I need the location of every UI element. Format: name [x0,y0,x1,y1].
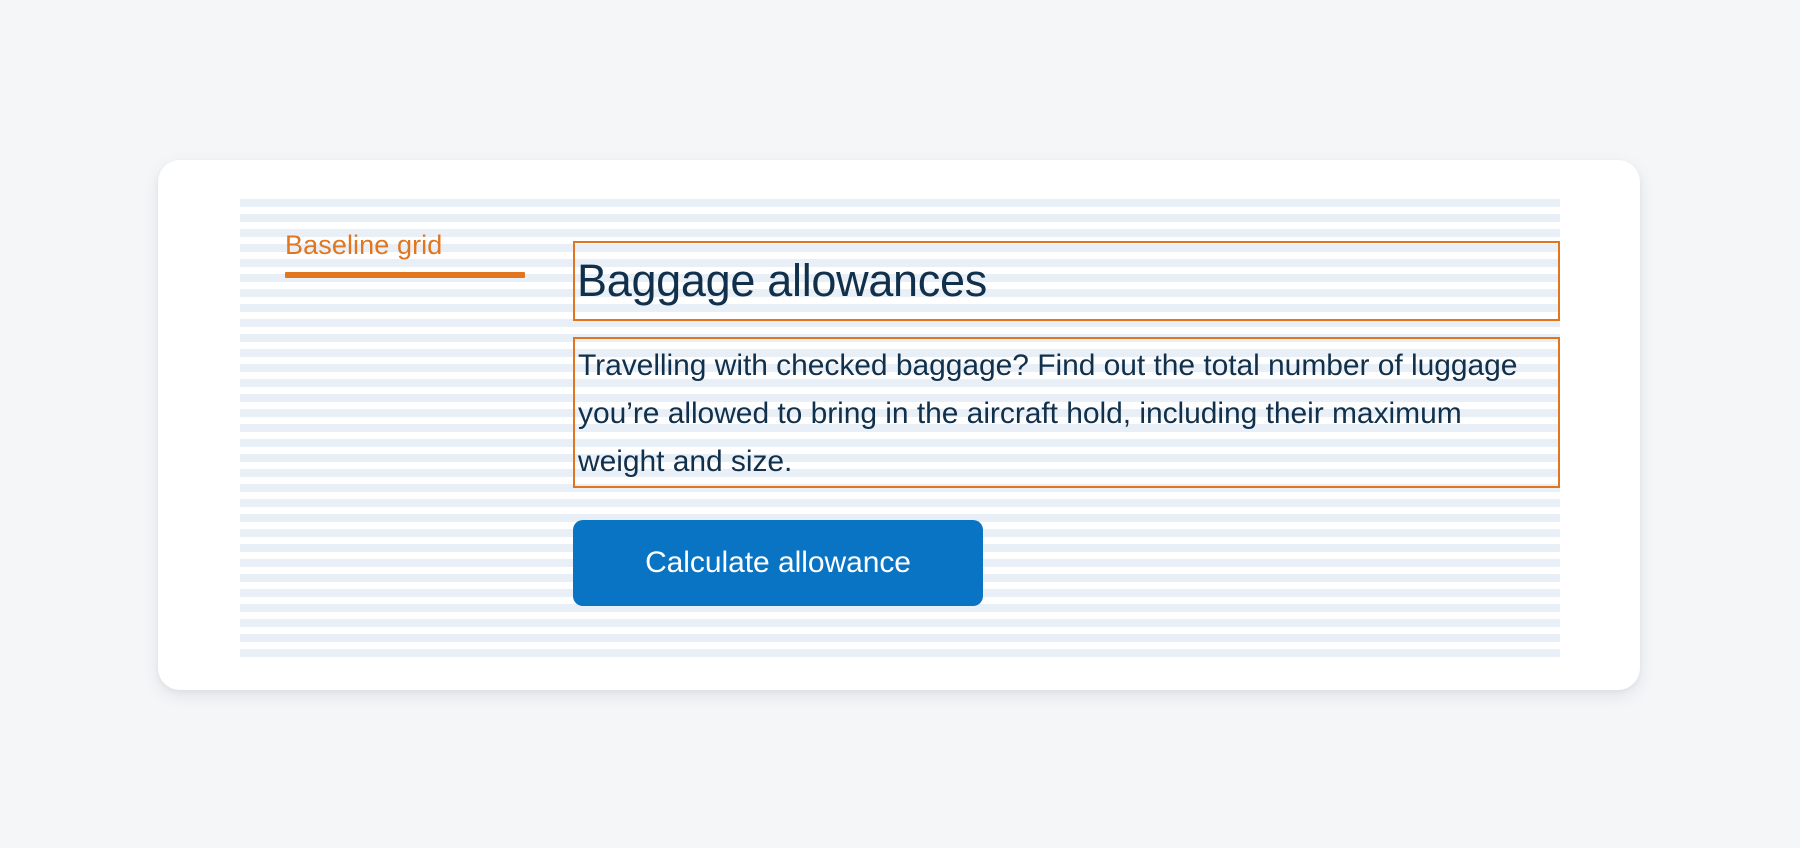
calculate-allowance-button[interactable]: Calculate allowance [573,520,983,606]
baseline-grid-annotation-rule [285,272,525,278]
baseline-grid-annotation: Baseline grid [285,226,535,278]
content-card: Baseline grid Baggage allowances Travell… [158,160,1640,690]
body-paragraph: Travelling with checked baggage? Find ou… [578,342,1546,486]
baseline-grid-annotation-label: Baseline grid [285,226,535,264]
screenshot-root: Baseline grid Baggage allowances Travell… [0,0,1800,848]
page-title: Baggage allowances [577,245,1557,317]
